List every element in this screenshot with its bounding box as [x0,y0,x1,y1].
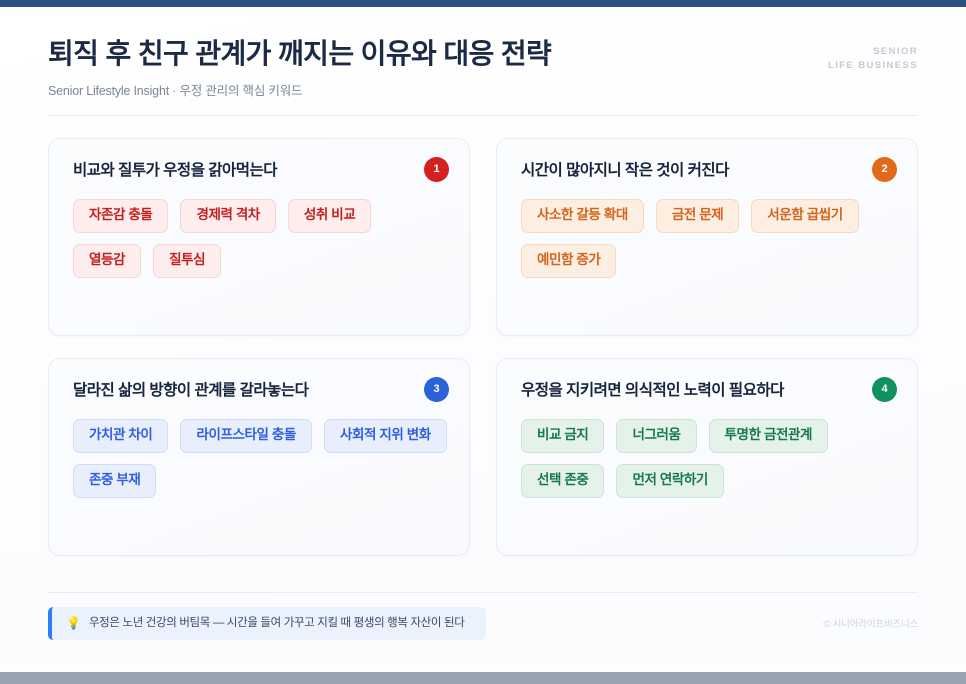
slide-stage: 퇴직 후 친구 관계가 깨지는 이유와 대응 전략 Senior Lifesty… [0,7,966,672]
key-takeaway-text: 우정은 노년 건강의 버팀목 — 시간을 들여 가꾸고 지킬 때 평생의 행복 … [89,616,465,630]
card-number-badge: 3 [424,377,449,402]
card-title: 비교와 질투가 우정을 갉아먹는다 [73,161,447,181]
slide-sheet: 퇴직 후 친구 관계가 깨지는 이유와 대응 전략 Senior Lifesty… [0,7,966,662]
brand-line-2: LIFE BUSINESS [828,59,918,73]
brand-line-1: SENIOR [828,45,918,59]
page-subtitle: Senior Lifestyle Insight · 우정 관리의 핵심 키워드 [48,80,918,99]
key-takeaway-note: 💡 우정은 노년 건강의 버팀목 — 시간을 들여 가꾸고 지킬 때 평생의 행… [48,607,486,640]
keyword-tag[interactable]: 사소한 갈등 확대 [521,199,644,233]
insight-card-1[interactable]: 비교와 질투가 우정을 갉아먹는다1자존감 충돌경제력 격차성취 비교열등감질투… [48,138,470,336]
keyword-tag[interactable]: 예민함 증가 [521,244,616,278]
brand-logo: SENIOR LIFE BUSINESS [828,45,918,74]
keyword-tag[interactable]: 선택 존중 [521,464,604,498]
keyword-tag[interactable]: 존중 부재 [73,464,156,498]
keyword-tag[interactable]: 서운함 곱씹기 [751,199,858,233]
insight-card-3[interactable]: 달라진 삶의 방향이 관계를 갈라놓는다3가치관 차이라이프스타일 충돌사회적 … [48,358,470,556]
keyword-tag[interactable]: 열등감 [73,244,141,278]
slide-footer: 💡 우정은 노년 건강의 버팀목 — 시간을 들여 가꾸고 지킬 때 평생의 행… [48,592,918,662]
card-number-badge: 1 [424,157,449,182]
window-top-bar [0,0,966,7]
keyword-tag[interactable]: 자존감 충돌 [73,199,168,233]
card-number-badge: 2 [872,157,897,182]
keyword-tag[interactable]: 질투심 [153,244,221,278]
card-title: 우정을 지키려면 의식적인 노력이 필요하다 [521,381,895,401]
keyword-tag-list: 가치관 차이라이프스타일 충돌사회적 지위 변화존중 부재 [73,419,447,498]
keyword-tag[interactable]: 경제력 격차 [180,199,275,233]
keyword-tag[interactable]: 너그러움 [616,419,696,453]
copyright-text: © 시니어라이프비즈니스 [805,616,918,630]
keyword-tag-list: 사소한 갈등 확대금전 문제서운함 곱씹기예민함 증가 [521,199,895,278]
lightbulb-icon: 💡 [66,617,81,629]
keyword-tag[interactable]: 사회적 지위 변화 [324,419,447,453]
insight-card-2[interactable]: 시간이 많아지니 작은 것이 커진다2사소한 갈등 확대금전 문제서운함 곱씹기… [496,138,918,336]
keyword-tag[interactable]: 가치관 차이 [73,419,168,453]
keyword-tag[interactable]: 금전 문제 [656,199,739,233]
card-number-badge: 4 [872,377,897,402]
keyword-tag[interactable]: 성취 비교 [288,199,371,233]
keyword-tag[interactable]: 먼저 연락하기 [616,464,723,498]
slide-header: 퇴직 후 친구 관계가 깨지는 이유와 대응 전략 Senior Lifesty… [48,37,918,116]
card-grid: 비교와 질투가 우정을 갉아먹는다1자존감 충돌경제력 격차성취 비교열등감질투… [48,138,918,556]
page-title: 퇴직 후 친구 관계가 깨지는 이유와 대응 전략 [48,37,918,71]
keyword-tag[interactable]: 투명한 금전관계 [709,419,829,453]
keyword-tag-list: 비교 금지너그러움투명한 금전관계선택 존중먼저 연락하기 [521,419,895,498]
card-title: 달라진 삶의 방향이 관계를 갈라놓는다 [73,381,447,401]
window-bottom-bar [0,672,966,684]
keyword-tag[interactable]: 비교 금지 [521,419,604,453]
keyword-tag[interactable]: 라이프스타일 충돌 [180,419,312,453]
insight-card-4[interactable]: 우정을 지키려면 의식적인 노력이 필요하다4비교 금지너그러움투명한 금전관계… [496,358,918,556]
keyword-tag-list: 자존감 충돌경제력 격차성취 비교열등감질투심 [73,199,447,278]
card-title: 시간이 많아지니 작은 것이 커진다 [521,161,895,181]
